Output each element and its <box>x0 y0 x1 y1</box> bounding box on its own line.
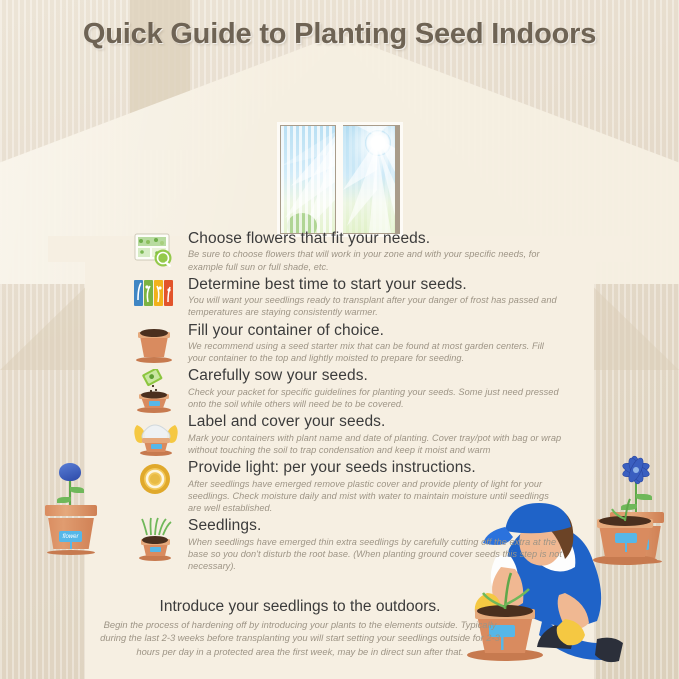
step-body: Be sure to choose flowers that will work… <box>188 248 563 272</box>
step-body: When seedlings have emerged thin extra s… <box>188 536 563 573</box>
leaf-left-b <box>70 487 84 493</box>
leaf-left-a <box>57 497 71 503</box>
step-body: We recommend using a seed starter mix th… <box>188 340 563 364</box>
step-heading: Seedlings. <box>188 517 563 534</box>
step-item: Provide light: per your seeds instructio… <box>133 459 563 514</box>
seedlings-pot-icon <box>133 513 181 555</box>
step-body: After seedlings have emerged remove plas… <box>188 478 563 515</box>
window-pane-left <box>281 126 335 233</box>
seed-packets-calendar-icon <box>133 278 181 320</box>
flower-bud-left <box>59 463 81 481</box>
step-heading: Fill your container of choice. <box>188 322 563 339</box>
step-heading: Carefully sow your seeds. <box>188 367 563 384</box>
step-item: Choose flowers that fit your needs. Be s… <box>133 230 563 273</box>
potted-flower-left: flower <box>45 505 97 555</box>
covered-pot-gloves-icon <box>133 415 181 457</box>
flower-bloom-right <box>610 450 664 490</box>
infographic-canvas: Quick Guide to Planting Seed Indoors <box>0 0 679 679</box>
step-item: Label and cover your seeds. Mark your co… <box>133 413 563 456</box>
steps-list: Choose flowers that fit your needs. Be s… <box>133 230 563 575</box>
pot-saucer-left <box>47 550 95 555</box>
window-mullion <box>336 124 343 235</box>
step-heading: Label and cover your seeds. <box>188 413 563 430</box>
outro-heading: Introduce your seedlings to the outdoors… <box>90 598 510 616</box>
pot-rim-left <box>45 505 97 516</box>
page-title: Quick Guide to Planting Seed Indoors <box>0 18 679 51</box>
sun-light-icon <box>133 461 181 503</box>
step-item: Carefully sow your seeds. Check your pac… <box>133 367 563 410</box>
step-body: Check your packet for specific guideline… <box>188 386 563 410</box>
empty-pot-icon <box>133 324 181 366</box>
step-heading: Provide light: per your seeds instructio… <box>188 459 563 476</box>
step-item: Determine best time to start your seeds.… <box>133 276 563 319</box>
outro-block: Introduce your seedlings to the outdoors… <box>90 598 510 658</box>
step-heading: Choose flowers that fit your needs. <box>188 230 563 247</box>
window-illustration <box>277 122 403 237</box>
step-heading: Determine best time to start your seeds. <box>188 276 563 293</box>
step-item: Fill your container of choice. We recomm… <box>133 322 563 365</box>
window-sheer-right <box>343 126 395 233</box>
window-pane-right <box>343 126 395 233</box>
tag-stem-left <box>70 541 72 549</box>
pot-label-left: flower <box>59 531 83 542</box>
step-item: Seedlings. When seedlings have emerged t… <box>133 517 563 572</box>
seed-catalog-icon <box>133 232 181 274</box>
gardener-bg-pot <box>593 499 657 565</box>
outro-body: Begin the process of hardening off by in… <box>90 618 510 658</box>
seed-packet-pouring-icon <box>133 369 181 411</box>
window-blind <box>281 126 335 233</box>
step-body: Mark your containers with plant name and… <box>188 432 563 456</box>
step-body: You will want your seedlings ready to tr… <box>188 294 563 318</box>
